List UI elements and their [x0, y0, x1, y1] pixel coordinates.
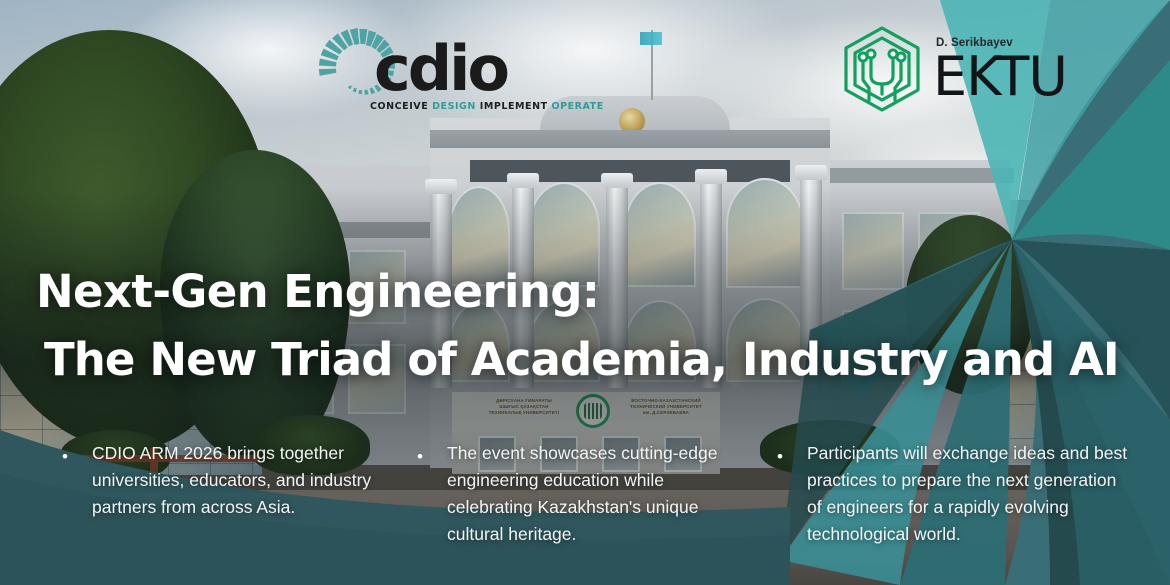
event-banner: ДӘРІСХАНА ҒИМАРАТЫ ШЫҒЫС ҚАЗАҚСТАН ТЕХНИ…	[0, 0, 1170, 585]
headline-line-2: The New Triad of Academia, Industry and …	[44, 326, 1151, 394]
headline-line-1: Next-Gen Engineering:	[36, 258, 1151, 326]
cdio-tagline-operate: OPERATE	[551, 101, 603, 112]
bullet-item: • Participants will exchange ideas and b…	[755, 440, 1145, 548]
cdio-logo: cdio CONCEIVE DESIGN IMPLEMENT OPERATE	[312, 22, 527, 114]
ektu-wordmark: EKTU	[933, 50, 1067, 104]
bullet-item: • The event showcases cutting-edge engin…	[395, 440, 755, 548]
bullet-text: The event showcases cutting-edge enginee…	[447, 440, 741, 548]
cdio-tagline: CONCEIVE DESIGN IMPLEMENT OPERATE	[370, 101, 604, 112]
bullet-marker: •	[755, 440, 807, 548]
bullet-text: Participants will exchange ideas and bes…	[807, 440, 1131, 548]
ektu-logo: D. Serikbayev EKTU	[838, 22, 1053, 117]
bullet-marker: •	[40, 440, 92, 548]
cdio-tagline-design: DESIGN	[432, 101, 476, 112]
bullet-list: • CDIO ARM 2026 brings together universi…	[40, 440, 1145, 548]
bullet-text: CDIO ARM 2026 brings together universiti…	[92, 440, 381, 548]
cdio-tagline-implement: IMPLEMENT	[480, 101, 548, 112]
bullet-marker: •	[395, 440, 447, 548]
bullet-item: • CDIO ARM 2026 brings together universi…	[40, 440, 395, 548]
cdio-wordmark: cdio	[374, 38, 507, 100]
ektu-hexagon-circuit-icon	[838, 24, 926, 114]
cdio-tagline-conceive: CONCEIVE	[370, 101, 428, 112]
headline: Next-Gen Engineering: The New Triad of A…	[36, 258, 1151, 394]
